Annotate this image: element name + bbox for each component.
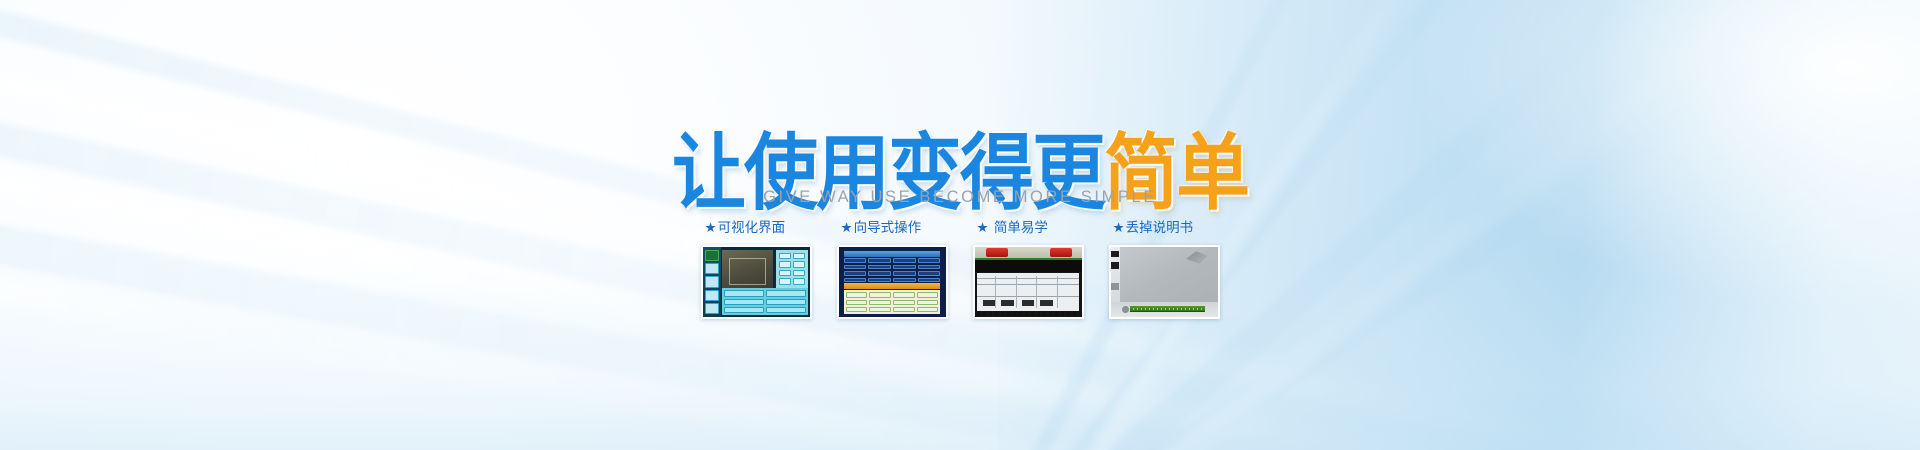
- thumb-lower-grid: [844, 290, 940, 314]
- star-icon: ★: [977, 220, 989, 236]
- feature-thumbnail-visual-interface[interactable]: [701, 245, 812, 319]
- feature-label: ★向导式操作: [841, 216, 948, 236]
- thumb-screw: [1122, 306, 1128, 313]
- thumb-upper-grid: [844, 258, 940, 282]
- feature-label-text: 简单易学: [990, 220, 1048, 236]
- thumb-surface-marking: [1186, 251, 1207, 264]
- feature-thumbnail-wizard-operation[interactable]: [837, 245, 948, 319]
- feature-label-text: 可视化界面: [718, 220, 786, 236]
- feature-thumbnail-easy-to-learn[interactable]: [973, 245, 1084, 319]
- thumb-button-grid: [776, 250, 808, 288]
- feature-item-visual-interface[interactable]: ★可视化界面: [701, 216, 812, 319]
- feature-label-text: 丢掉说明书: [1126, 220, 1194, 236]
- thumb-green-pcb: [1130, 306, 1205, 312]
- feature-label-text: 向导式操作: [854, 220, 922, 236]
- thumb-dark-band: [975, 260, 1082, 272]
- feature-item-easy-to-learn[interactable]: ★ 简单易学: [973, 216, 1084, 319]
- star-icon: ★: [841, 220, 853, 236]
- subtitle: GIVE WAY USE BECOME MORE SIMPLE: [0, 188, 1920, 207]
- thumb-red-part-right: [1050, 248, 1071, 257]
- feature-label: ★ 简单易学: [977, 216, 1084, 236]
- hero-banner: 让使用变得更简单 GIVE WAY USE BECOME MORE SIMPLE…: [0, 0, 1920, 450]
- feature-item-wizard-operation[interactable]: ★向导式操作: [837, 216, 948, 319]
- thumb-connector-pins: [977, 311, 1080, 315]
- feature-label: ★丢掉说明书: [1113, 216, 1220, 236]
- thumb-sidebar: [703, 247, 721, 317]
- feature-list: ★可视化界面 ★向导式操作 ★ 简单易学: [0, 216, 1920, 319]
- star-icon: ★: [1113, 220, 1125, 236]
- feature-thumbnail-no-manual[interactable]: [1109, 245, 1220, 319]
- thumb-title-bar: [844, 251, 940, 257]
- feature-item-no-manual[interactable]: ★丢掉说明书: [1109, 216, 1220, 319]
- thumb-preview-image: [722, 250, 773, 288]
- thumb-technical-panel: [977, 273, 1080, 311]
- thumb-option-panel: [722, 288, 809, 315]
- feature-label: ★可视化界面: [705, 216, 812, 236]
- thumb-section-bar: [844, 283, 940, 289]
- star-icon: ★: [705, 220, 717, 236]
- thumb-red-part-left: [986, 248, 1007, 257]
